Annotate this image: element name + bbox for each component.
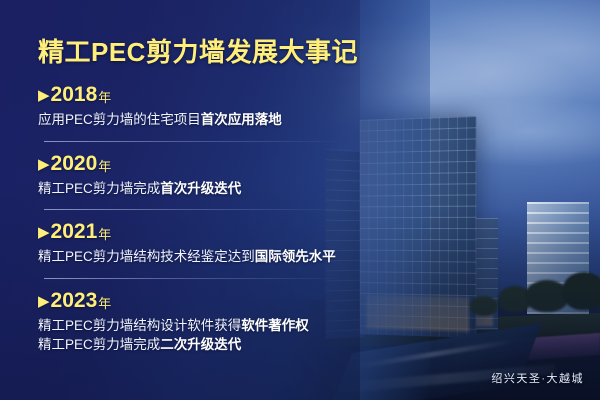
timeline-text-normal: 精工PEC剪力墙结构技术经鉴定达到 [38, 249, 255, 264]
year-suffix: 年 [98, 91, 111, 104]
timeline-text: 精工PEC剪力墙结构技术经鉴定达到国际领先水平 [38, 247, 383, 267]
timeline-item-2021: ▶ 2021 年 精工PEC剪力墙结构技术经鉴定达到国际领先水平 [38, 221, 383, 267]
timeline-item-2020: ▶ 2020 年 精工PEC剪力墙完成首次升级迭代 [38, 153, 383, 199]
timeline-divider [44, 209, 344, 210]
timeline-divider [44, 278, 344, 279]
year-number: 2018 [51, 84, 98, 105]
timeline-divider [44, 141, 344, 142]
timeline-text-normal: 精工PEC剪力墙完成 [38, 337, 160, 352]
timeline-year-2023: ▶ 2023 年 [38, 290, 383, 311]
year-suffix: 年 [98, 228, 111, 241]
triangle-right-icon: ▶ [38, 88, 50, 103]
triangle-right-icon: ▶ [38, 294, 50, 309]
poster-content: 精工PEC剪力墙发展大事记 ▶ 2018 年 应用PEC剪力墙的住宅项目首次应用… [0, 0, 600, 400]
timeline-list: ▶ 2018 年 应用PEC剪力墙的住宅项目首次应用落地 ▶ 2020 年 精工… [38, 84, 383, 355]
triangle-right-icon: ▶ [38, 157, 50, 172]
page-title: 精工PEC剪力墙发展大事记 [38, 32, 358, 69]
timeline-text-normal: 应用PEC剪力墙的住宅项目 [38, 112, 201, 127]
promotional-poster: 精工PEC剪力墙发展大事记 ▶ 2018 年 应用PEC剪力墙的住宅项目首次应用… [0, 0, 600, 400]
timeline-text-bold: 二次升级迭代 [160, 337, 241, 352]
timeline-year-2018: ▶ 2018 年 [38, 84, 383, 105]
timeline-item-2023: ▶ 2023 年 精工PEC剪力墙结构设计软件获得软件著作权 精工PEC剪力墙完… [38, 290, 383, 355]
timeline-text-bold: 首次应用落地 [201, 112, 282, 127]
timeline-year-2021: ▶ 2021 年 [38, 221, 383, 242]
timeline-text-normal: 精工PEC剪力墙完成 [38, 181, 160, 196]
timeline-text: 精工PEC剪力墙完成首次升级迭代 [38, 179, 383, 199]
timeline-text-bold: 国际领先水平 [255, 249, 336, 264]
timeline-text-bold: 软件著作权 [241, 318, 309, 333]
watermark-label: 绍兴天圣·大越城 [491, 370, 584, 386]
year-number: 2023 [51, 290, 98, 311]
timeline-text-bold: 首次升级迭代 [160, 181, 241, 196]
timeline-year-2020: ▶ 2020 年 [38, 153, 383, 174]
timeline-text-normal: 精工PEC剪力墙结构设计软件获得 [38, 318, 241, 333]
timeline-text: 精工PEC剪力墙完成二次升级迭代 [38, 335, 383, 355]
year-number: 2020 [51, 153, 98, 174]
timeline-text: 精工PEC剪力墙结构设计软件获得软件著作权 [38, 316, 383, 336]
year-suffix: 年 [98, 297, 111, 310]
year-suffix: 年 [98, 160, 111, 173]
triangle-right-icon: ▶ [38, 225, 50, 240]
timeline-text: 应用PEC剪力墙的住宅项目首次应用落地 [38, 110, 383, 130]
timeline-item-2018: ▶ 2018 年 应用PEC剪力墙的住宅项目首次应用落地 [38, 84, 383, 130]
year-number: 2021 [51, 221, 98, 242]
